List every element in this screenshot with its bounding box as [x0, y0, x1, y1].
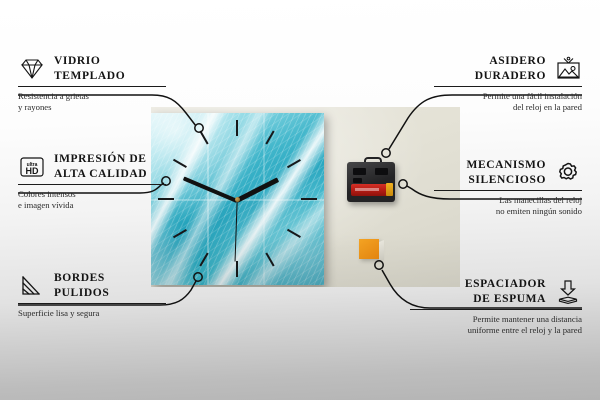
connector-dot-mecanismo [399, 180, 407, 188]
feature-title: ASIDERO DURADERO [475, 54, 546, 83]
feature-heading-row: MECANISMO SILENCIOSO [434, 158, 582, 187]
feature-title: IMPRESIÓN DE ALTA CALIDAD [54, 152, 147, 181]
feature-subtitle: Permite una fácil instalación del reloj … [434, 91, 582, 114]
connector-dot-bordes [194, 273, 202, 281]
feature-subtitle: Resistencia a grietas y rayones [18, 91, 166, 114]
feature-title: BORDES PULIDOS [54, 271, 109, 300]
feature-asidero-duradero[interactable]: ASIDERO DURADERO Permite una fácil insta… [434, 54, 582, 114]
feature-heading-row: ESPACIADOR DE ESPUMA [410, 277, 582, 306]
arrow-down-layers-icon [554, 279, 582, 305]
ultra-hd-icon: ultra HD [18, 154, 46, 180]
connector-dot-asidero [382, 149, 390, 157]
ultra-hd-icon-large-text: HD [26, 166, 39, 176]
feature-subtitle: Superficie lisa y segura [18, 308, 166, 320]
gear-icon [554, 160, 582, 186]
feature-title: MECANISMO SILENCIOSO [466, 158, 546, 187]
infographic-canvas: VIDRIO TEMPLADO Resistencia a grietas y … [0, 0, 600, 400]
polished-edges-icon [18, 273, 46, 299]
diamond-icon [18, 56, 46, 82]
feature-impresion-alta-calidad[interactable]: ultra HD IMPRESIÓN DE ALTA CALIDAD Color… [18, 152, 166, 212]
feature-heading-row: VIDRIO TEMPLADO [18, 54, 166, 83]
feature-rule [18, 184, 166, 185]
feature-rule [434, 86, 582, 87]
feature-title: ESPACIADOR DE ESPUMA [465, 277, 546, 306]
connector-dot-espaciador [375, 261, 383, 269]
feature-mecanismo-silencioso[interactable]: MECANISMO SILENCIOSO Las manecillas del … [434, 158, 582, 218]
feature-heading-row: ASIDERO DURADERO [434, 54, 582, 83]
feature-rule [410, 309, 582, 310]
feature-heading-row: BORDES PULIDOS [18, 271, 166, 300]
feature-rule [18, 86, 166, 87]
feature-subtitle: Permite mantener una distancia uniforme … [410, 314, 582, 337]
connector-dot-vidrio [195, 124, 203, 132]
feature-subtitle: Las manecillas del reloj no emiten ningú… [434, 195, 582, 218]
feature-rule [434, 190, 582, 191]
wall-hanging-frame-icon [554, 56, 582, 82]
feature-espaciador-de-espuma[interactable]: ESPACIADOR DE ESPUMA Permite mantener un… [410, 277, 582, 337]
feature-rule [18, 303, 166, 304]
feature-bordes-pulidos[interactable]: BORDES PULIDOS Superficie lisa y segura [18, 271, 166, 319]
feature-title: VIDRIO TEMPLADO [54, 54, 125, 83]
feature-vidrio-templado[interactable]: VIDRIO TEMPLADO Resistencia a grietas y … [18, 54, 166, 114]
feature-heading-row: ultra HD IMPRESIÓN DE ALTA CALIDAD [18, 152, 166, 181]
feature-subtitle: Colores intensos e imagen vívida [18, 189, 166, 212]
